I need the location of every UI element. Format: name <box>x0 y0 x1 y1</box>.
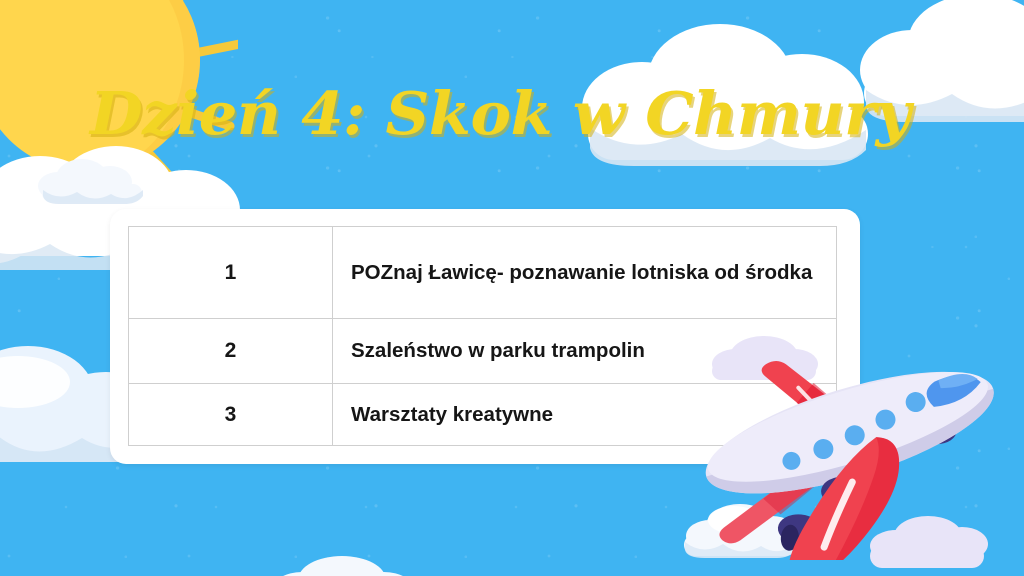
page-title: Dzień 4: Skok w Chmury <box>90 84 966 143</box>
cloud-left-small-icon <box>34 156 154 208</box>
row-number: 3 <box>129 384 333 446</box>
row-number: 2 <box>129 319 333 384</box>
table-row: 1 POZnaj Ławicę- poznawanie lotniska od … <box>129 227 837 319</box>
cloud-bottom-far-right-icon <box>268 548 418 576</box>
row-activity: POZnaj Ławicę- poznawanie lotniska od śr… <box>333 227 837 319</box>
slide-canvas: Dzień 4: Skok w Chmury 1 POZnaj Ławicę- … <box>0 0 1024 576</box>
row-number: 1 <box>129 227 333 319</box>
airplane-illustration <box>686 360 1024 565</box>
